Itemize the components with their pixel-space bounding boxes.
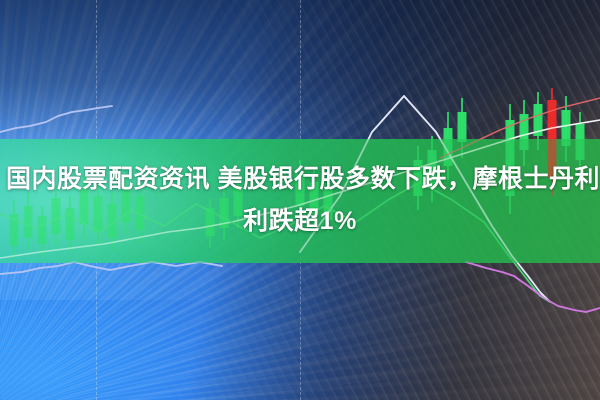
candle-body <box>576 124 585 160</box>
candle-body <box>562 110 571 146</box>
headline-text: 国内股票配资资讯 美股银行股多数下跌，摩根士丹利 利跌超1% <box>0 158 600 242</box>
headline-line-1: 国内股票配资资讯 美股银行股多数下跌，摩根士丹利 <box>6 158 594 200</box>
banner-image: 国内股票配资资讯 美股银行股多数下跌，摩根士丹利 利跌超1% <box>0 0 600 400</box>
headline-line-2: 利跌超1% <box>6 200 594 242</box>
candle-body <box>458 112 467 142</box>
trend-line-lavender-step-bottom <box>0 262 222 274</box>
trend-line-lavender-step-top <box>0 106 112 132</box>
